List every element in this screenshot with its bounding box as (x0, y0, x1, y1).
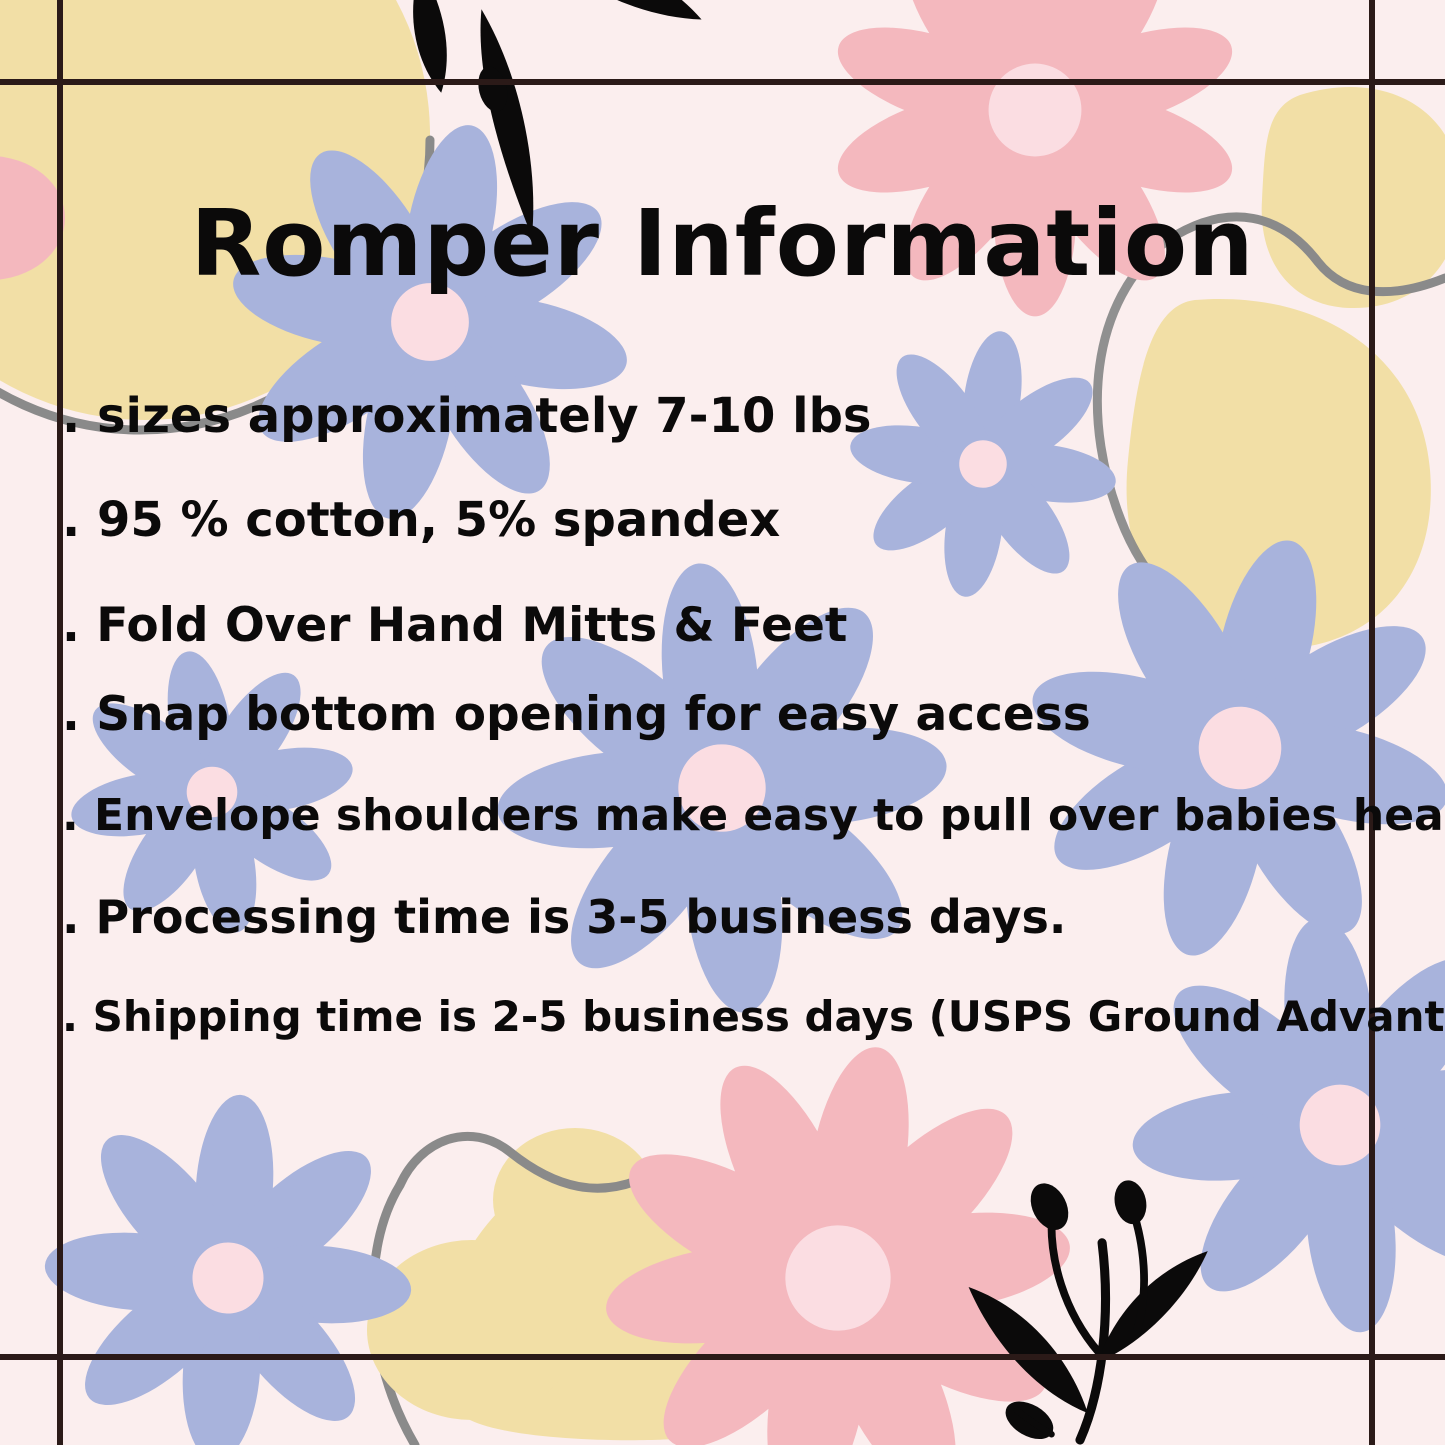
bullet-marker: . (62, 687, 80, 742)
list-item: . 95 % cotton, 5% spandex (62, 496, 1422, 544)
list-item: . Snap bottom opening for easy access (62, 691, 1422, 738)
bullet-text: Snap bottom opening for easy access (96, 687, 1090, 742)
bullet-text: sizes approximately 7-10 lbs (97, 388, 872, 444)
list-item: . sizes approximately 7-10 lbs (62, 392, 1422, 440)
bullet-text: 95 % cotton, 5% spandex (97, 492, 780, 548)
list-item: . Fold Over Hand Mitts & Feet (62, 602, 1422, 649)
bullet-text: Envelope shoulders make easy to pull ove… (94, 790, 1445, 841)
romper-information-graphic: Romper Information . sizes approximately… (0, 0, 1445, 1445)
bullet-marker: . (62, 890, 79, 944)
bullet-list: . sizes approximately 7-10 lbs . 95 % co… (62, 392, 1422, 1038)
list-item: . Envelope shoulders make easy to pull o… (62, 794, 1422, 838)
bullet-text: Processing time is 3-5 business days. (96, 890, 1067, 944)
page-title: Romper Information (0, 196, 1445, 293)
bullet-marker: . (62, 388, 80, 444)
list-item: . Processing time is 3-5 business days. (62, 894, 1422, 940)
bullet-text: Fold Over Hand Mitts & Feet (96, 598, 847, 653)
bullet-text: Shipping time is 2-5 business days (USPS… (93, 992, 1445, 1041)
list-item: . Shipping time is 2-5 business days (US… (62, 996, 1422, 1038)
bullet-marker: . (62, 992, 78, 1041)
bullet-marker: . (62, 598, 80, 653)
bullet-marker: . (62, 492, 80, 548)
bullet-marker: . (62, 790, 79, 841)
